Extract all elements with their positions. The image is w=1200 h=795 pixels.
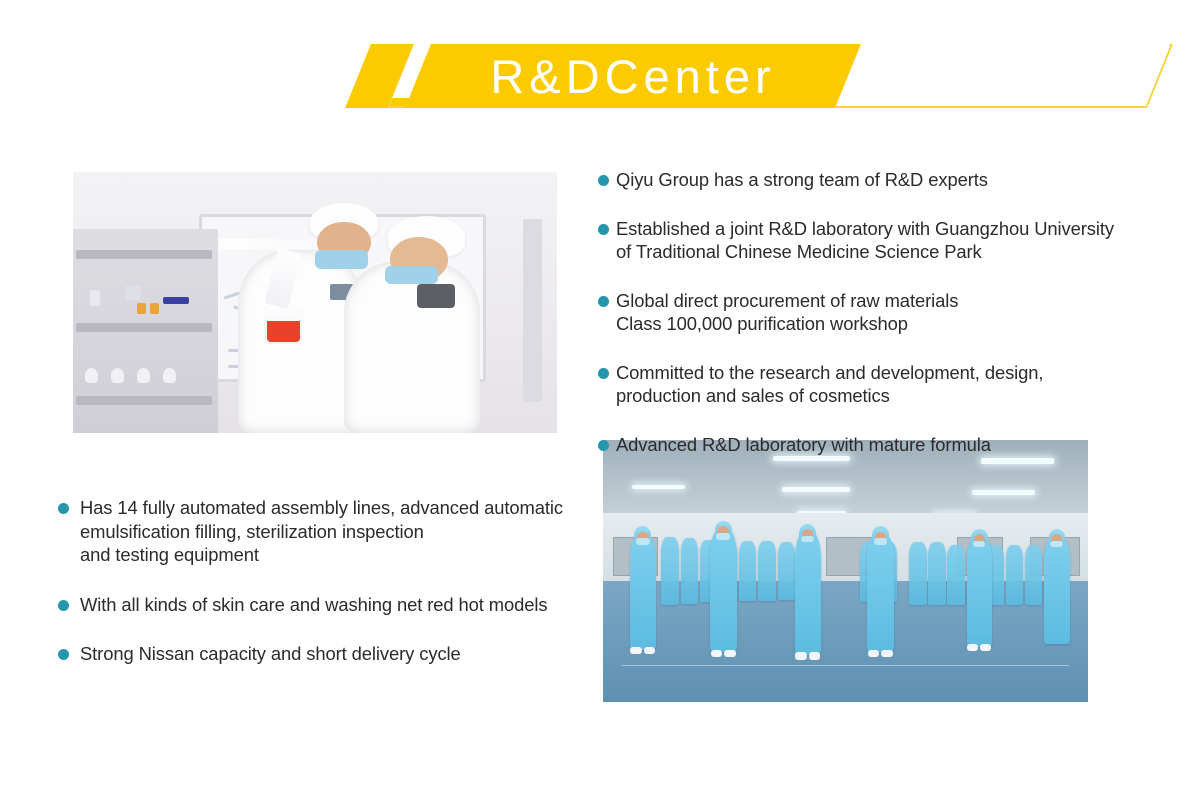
worker-mask [1050, 541, 1063, 547]
shelf-bar [76, 396, 212, 405]
worker-shoe [795, 652, 807, 659]
researcher-female-mask [385, 266, 438, 284]
list-item-label: Committed to the research and developmen… [616, 361, 1043, 408]
worker [1006, 545, 1023, 605]
worker [739, 541, 756, 601]
worker-front [710, 529, 737, 652]
lab-bottle [90, 290, 100, 306]
worker-shoe [868, 650, 880, 657]
lab-bottle [125, 286, 141, 300]
worker-front [1044, 537, 1069, 644]
bullet-dot-icon [58, 649, 69, 660]
lab-bottle [85, 368, 98, 383]
list-item: Qiyu Group has a strong team of R&D expe… [598, 168, 1158, 192]
left-bullet-list: Has 14 fully automated assembly lines, a… [58, 496, 598, 692]
worker-front [795, 532, 821, 655]
worker-mask [801, 536, 815, 542]
list-item-label: Has 14 fully automated assembly lines, a… [80, 496, 563, 567]
lab-bottle [163, 297, 189, 304]
worker [661, 537, 678, 605]
list-item-label: With all kinds of skin care and washing … [80, 593, 548, 617]
worker-mask [874, 538, 888, 544]
worker-shoe [881, 650, 893, 657]
worker [909, 542, 927, 605]
list-item-label: Global direct procurement of raw materia… [616, 289, 958, 336]
lab-bottle [150, 303, 159, 314]
lab-bottle [111, 368, 124, 383]
lab-shelf [73, 229, 218, 433]
worker [681, 538, 698, 604]
worker-front [630, 534, 656, 649]
worker-shoe [711, 650, 723, 657]
page-title: R&DCenter [418, 44, 848, 108]
bullet-dot-icon [598, 440, 609, 451]
list-item: Established a joint R&D laboratory with … [598, 217, 1158, 264]
bullet-dot-icon [598, 175, 609, 186]
shelf-bar [76, 250, 212, 259]
lab-bottle [163, 368, 176, 383]
worker-mask [973, 541, 986, 547]
ceiling-lamp [782, 487, 850, 492]
lab-photo [73, 172, 557, 433]
researcher-female-collar [417, 284, 456, 307]
worker-shoe [644, 647, 656, 654]
worker-shoe [967, 644, 978, 651]
lab-bottle [137, 303, 146, 314]
list-item: Has 14 fully automated assembly lines, a… [58, 496, 598, 567]
rd-center-slide: R&DCenter [0, 0, 1200, 795]
bullet-dot-icon [598, 296, 609, 307]
worker-front [867, 534, 893, 652]
list-item-label: Established a joint R&D laboratory with … [616, 217, 1114, 264]
ceiling-lamp [972, 490, 1035, 495]
list-item: Committed to the research and developmen… [598, 361, 1158, 408]
worker-front [967, 537, 992, 647]
worker-shoe [809, 652, 821, 659]
worker [778, 542, 795, 600]
list-item: Advanced R&D laboratory with mature form… [598, 433, 1158, 457]
shelf-bar [76, 323, 212, 332]
bullet-dot-icon [58, 600, 69, 611]
researcher-female-body [344, 261, 480, 433]
footer: PROFESSION [0, 716, 1200, 795]
bullet-dot-icon [58, 503, 69, 514]
worker-shoe [630, 647, 642, 654]
list-item-label: Strong Nissan capacity and short deliver… [80, 642, 461, 666]
list-item: With all kinds of skin care and washing … [58, 593, 598, 617]
bullet-dot-icon [598, 224, 609, 235]
flask-liquid [267, 321, 301, 342]
worker-mask [716, 533, 730, 539]
worker [758, 541, 775, 601]
list-item-label: Qiyu Group has a strong team of R&D expe… [616, 168, 988, 192]
ceiling-lamp [632, 485, 685, 490]
worker-mask [636, 538, 650, 544]
worker [947, 545, 964, 605]
header-banner: R&DCenter [0, 0, 1200, 160]
worker [928, 542, 946, 605]
worker-shoe [980, 644, 991, 651]
lab-door-frame [523, 219, 542, 402]
list-item: Strong Nissan capacity and short deliver… [58, 642, 598, 666]
list-item: Global direct procurement of raw materia… [598, 289, 1158, 336]
list-item-label: Advanced R&D laboratory with mature form… [616, 433, 991, 457]
worker-shoe [724, 650, 736, 657]
researcher-male-mask [315, 250, 368, 268]
bullet-dot-icon [598, 368, 609, 379]
right-bullet-list: Qiyu Group has a strong team of R&D expe… [598, 168, 1158, 481]
lab-bottle [137, 368, 150, 383]
floor-marking-line [622, 665, 1068, 666]
worker [1025, 545, 1042, 605]
